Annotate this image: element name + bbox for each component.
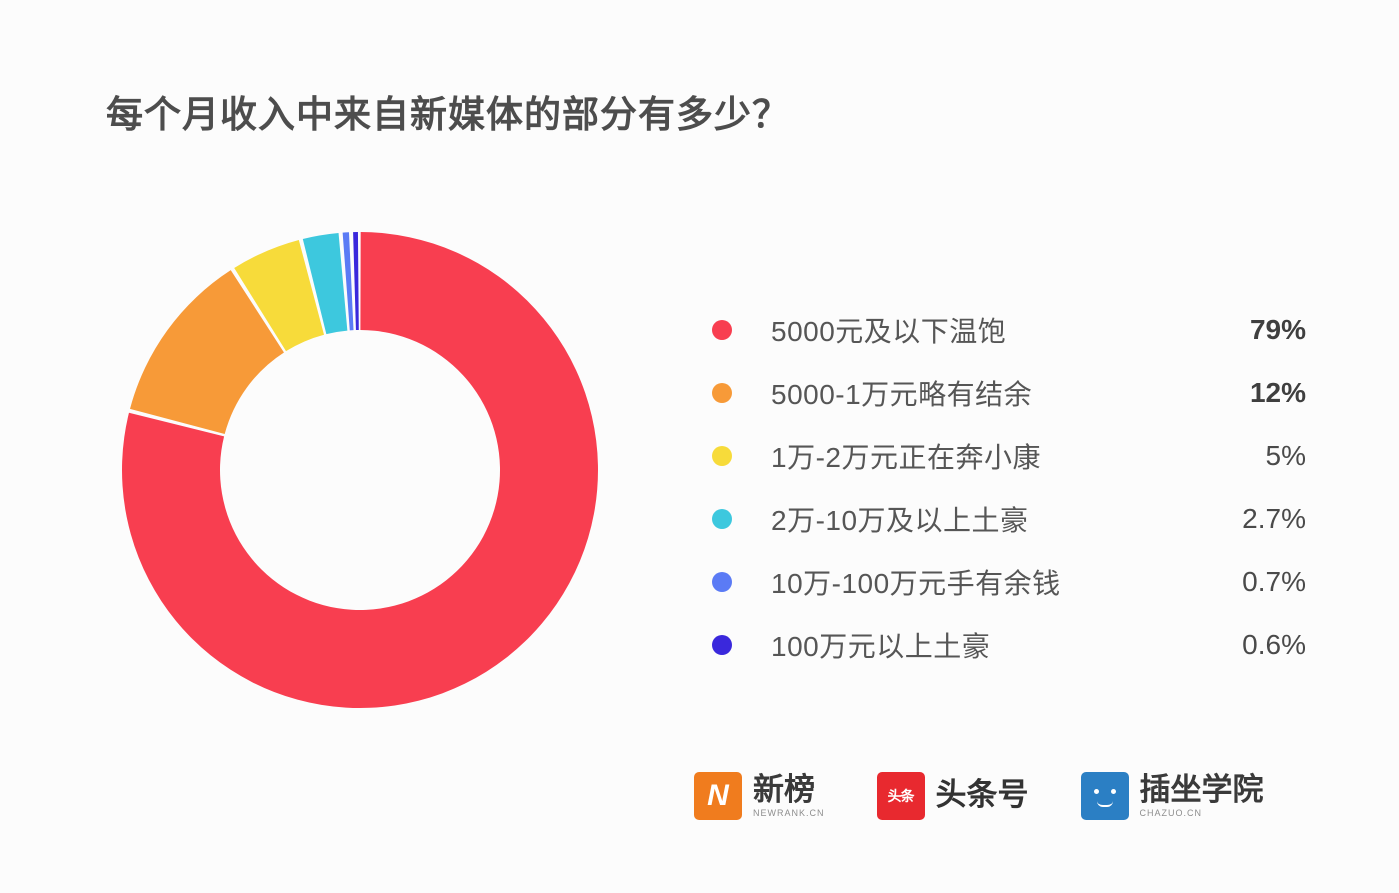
- legend-item-5[interactable]: 100万元以上土豪 0.6%: [712, 613, 1312, 676]
- legend-label-1: 5000-1万元略有结余: [771, 373, 1198, 413]
- legend-item-2[interactable]: 1万-2万元正在奔小康 5%: [712, 424, 1312, 487]
- donut-slice-group: [122, 232, 598, 708]
- legend-swatch-icon-1: [712, 383, 732, 403]
- legend-label-2: 1万-2万元正在奔小康: [771, 436, 1198, 476]
- legend-value-0: 79%: [1198, 314, 1312, 346]
- newrank-glyph: N: [707, 781, 729, 811]
- legend-swatch-icon-5: [712, 635, 732, 655]
- legend-item-3[interactable]: 2万-10万及以上土豪 2.7%: [712, 487, 1312, 550]
- legend-value-2: 5%: [1198, 440, 1312, 472]
- legend-item-4[interactable]: 10万-100万元手有余钱 0.7%: [712, 550, 1312, 613]
- legend-item-0[interactable]: 5000元及以下温饱 79%: [712, 298, 1312, 361]
- legend-item-1[interactable]: 5000-1万元略有结余 12%: [712, 361, 1312, 424]
- donut-chart-svg: [118, 228, 602, 712]
- footer-logo-bar: N 新榜 NEWRANK.CN 头条 头条号 插坐学院 CHAZUO.CN: [694, 772, 1264, 820]
- page-title: 每个月收入中来自新媒体的部分有多少？: [106, 84, 790, 138]
- donut-slice-5[interactable]: [353, 232, 359, 330]
- legend-value-5: 0.6%: [1198, 629, 1312, 661]
- logo-newrank: N 新榜 NEWRANK.CN: [694, 772, 825, 820]
- legend-value-1: 12%: [1198, 377, 1312, 409]
- chazuo-eye-left-icon: [1094, 789, 1099, 794]
- legend-swatch-icon-3: [712, 509, 732, 529]
- newrank-text: 新榜 NEWRANK.CN: [753, 774, 825, 819]
- chazuo-eye-right-icon: [1111, 789, 1116, 794]
- legend-value-4: 0.7%: [1198, 566, 1312, 598]
- chazuo-domain: CHAZUO.CN: [1140, 808, 1264, 818]
- legend-swatch-icon-2: [712, 446, 732, 466]
- legend-swatch-icon-0: [712, 320, 732, 340]
- legend-label-5: 100万元以上土豪: [771, 625, 1198, 665]
- chazuo-mouth-icon: [1097, 801, 1113, 807]
- legend-value-3: 2.7%: [1198, 503, 1312, 535]
- legend-label-3: 2万-10万及以上土豪: [771, 499, 1198, 539]
- chazuo-mark-icon: [1081, 772, 1129, 820]
- legend-swatch-icon-4: [712, 572, 732, 592]
- newrank-domain: NEWRANK.CN: [753, 808, 825, 818]
- donut-chart: [118, 228, 602, 712]
- chazuo-name: 插坐学院: [1140, 774, 1264, 807]
- legend-label-4: 10万-100万元手有余钱: [771, 562, 1198, 602]
- chazuo-text: 插坐学院 CHAZUO.CN: [1140, 774, 1264, 819]
- chart-legend: 5000元及以下温饱 79% 5000-1万元略有结余 12% 1万-2万元正在…: [712, 298, 1312, 676]
- legend-label-0: 5000元及以下温饱: [771, 310, 1198, 350]
- toutiao-text: 头条号: [936, 779, 1029, 814]
- toutiao-name: 头条号: [936, 779, 1029, 812]
- logo-chazuo: 插坐学院 CHAZUO.CN: [1081, 772, 1264, 820]
- newrank-name: 新榜: [753, 774, 825, 807]
- toutiao-mark-icon: 头条: [877, 772, 925, 820]
- newrank-mark-icon: N: [694, 772, 742, 820]
- logo-toutiaohao: 头条 头条号: [877, 772, 1029, 820]
- toutiao-glyph: 头条: [888, 789, 914, 803]
